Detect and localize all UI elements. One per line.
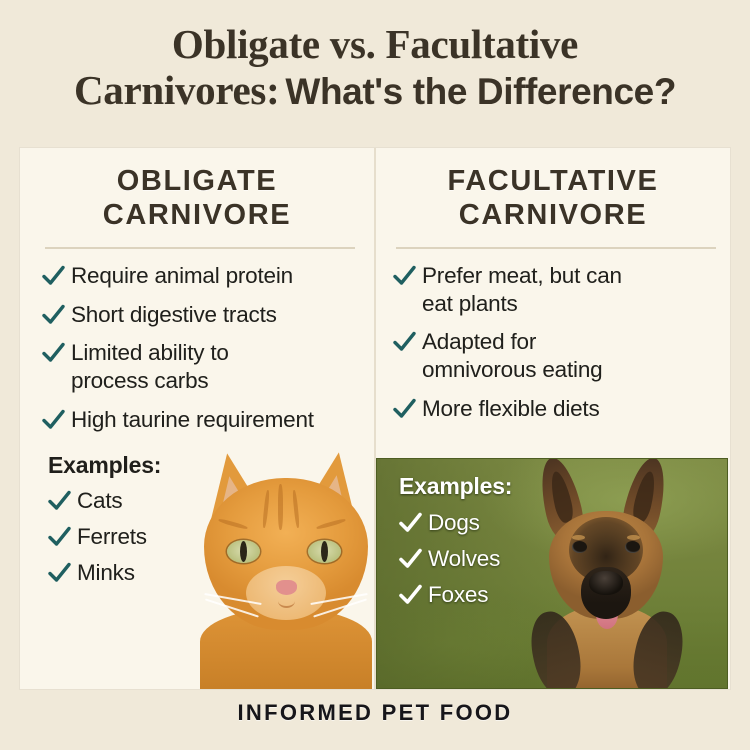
list-item-label: More flexible diets — [422, 395, 600, 423]
list-item: Short digestive tracts — [42, 301, 374, 329]
list-item-label: Minks — [77, 560, 135, 586]
page-title: Obligate vs. Facultative Carnivores:What… — [0, 22, 750, 113]
check-icon — [399, 510, 422, 536]
list-item-label: Adapted for omnivorous eating — [422, 328, 654, 383]
column-heading-obligate: OBLIGATE CARNIVORE — [20, 164, 374, 232]
list-item: High taurine requirement — [42, 406, 374, 434]
list-item-label: Foxes — [428, 582, 488, 608]
check-icon — [48, 524, 71, 550]
list-item-label: Wolves — [428, 546, 500, 572]
list-item: Limited ability to process carbs — [42, 339, 374, 394]
check-icon — [42, 263, 65, 289]
list-item-label: Cats — [77, 488, 122, 514]
check-icon — [42, 302, 65, 328]
list-item: More flexible diets — [393, 395, 728, 423]
bullet-list-obligate: Require animal protein Short digestive t… — [42, 262, 374, 444]
check-icon — [399, 546, 422, 572]
title-serif-part-1: Obligate vs. Facultative — [172, 21, 578, 67]
check-icon — [399, 582, 422, 608]
title-sans-part: What's the Difference? — [285, 71, 676, 112]
list-item: Prefer meat, but can eat plants — [393, 262, 728, 317]
column-obligate: OBLIGATE CARNIVORE Require animal protei… — [20, 148, 374, 689]
heading-rule — [396, 247, 716, 249]
list-item: Minks — [48, 560, 248, 586]
examples-label: Examples: — [399, 473, 569, 500]
list-item: Dogs — [399, 510, 569, 536]
heading-line-1: FACULTATIVE — [376, 164, 730, 198]
list-item-label: Limited ability to process carbs — [71, 339, 286, 394]
infographic-canvas: Obligate vs. Facultative Carnivores:What… — [0, 0, 750, 750]
examples-label: Examples: — [48, 452, 248, 479]
list-item: Require animal protein — [42, 262, 374, 290]
list-item-label: Prefer meat, but can eat plants — [422, 262, 637, 317]
heading-line-1: OBLIGATE — [20, 164, 374, 198]
bullet-list-facultative: Prefer meat, but can eat plants Adapted … — [393, 262, 728, 433]
title-serif-part-2: Carnivores: — [74, 67, 279, 113]
list-item: Ferrets — [48, 524, 248, 550]
check-icon — [393, 396, 416, 422]
heading-line-2: CARNIVORE — [376, 198, 730, 232]
check-icon — [48, 560, 71, 586]
check-icon — [48, 488, 71, 514]
title-line-2: Carnivores:What's the Difference? — [0, 68, 750, 112]
check-icon — [42, 340, 65, 366]
heading-rule — [45, 247, 355, 249]
list-item-label: High taurine requirement — [71, 406, 314, 434]
list-item: Foxes — [399, 582, 569, 608]
list-item-label: Dogs — [428, 510, 480, 536]
title-line-1: Obligate vs. Facultative — [0, 22, 750, 66]
examples-block-obligate: Examples: Cats Ferrets — [48, 452, 248, 596]
comparison-card: OBLIGATE CARNIVORE Require animal protei… — [20, 148, 730, 689]
footer-brand: INFORMED PET FOOD — [0, 700, 750, 726]
check-icon — [393, 263, 416, 289]
examples-block-facultative: Examples: Dogs Wolves — [399, 473, 569, 618]
column-heading-facultative: FACULTATIVE CARNIVORE — [376, 164, 730, 232]
list-item: Wolves — [399, 546, 569, 572]
list-item-label: Short digestive tracts — [71, 301, 277, 329]
list-item: Adapted for omnivorous eating — [393, 328, 728, 383]
list-item: Cats — [48, 488, 248, 514]
list-item-label: Require animal protein — [71, 262, 293, 290]
check-icon — [42, 407, 65, 433]
heading-line-2: CARNIVORE — [20, 198, 374, 232]
list-item-label: Ferrets — [77, 524, 147, 550]
examples-panel-facultative: Examples: Dogs Wolves — [376, 458, 728, 689]
check-icon — [393, 329, 416, 355]
